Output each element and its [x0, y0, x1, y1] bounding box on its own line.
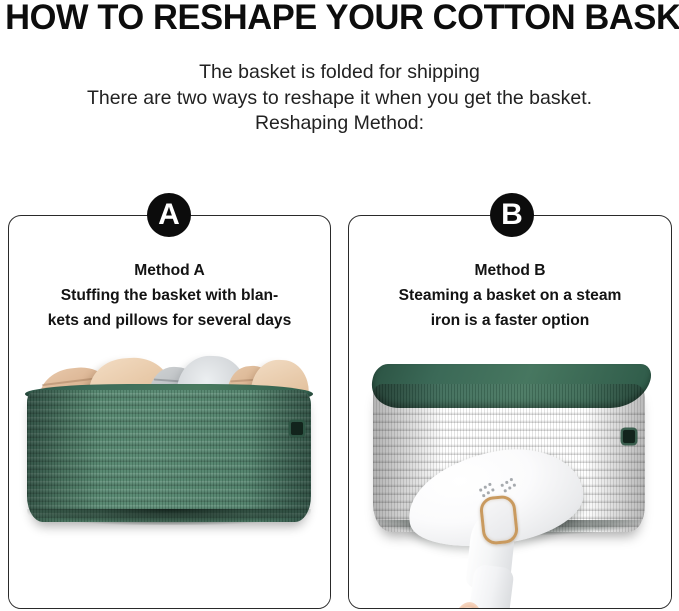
method-badge-b: B: [490, 193, 534, 237]
basket-a-rope-rows: [27, 390, 311, 522]
page-title: HOW TO RESHAPE YOUR COTTON BASKET: [5, 0, 674, 38]
method-card-a[interactable]: Method A Stuffing the basket with blan- …: [8, 215, 331, 609]
basket-a-body: [27, 390, 311, 522]
garment-steamer: [407, 444, 597, 609]
steamer-power-button[interactable]: [479, 494, 520, 546]
method-b-title: Method B: [355, 258, 665, 283]
method-a-caption: Method A Stuffing the basket with blan- …: [15, 258, 324, 333]
basket-a-shade-left: [27, 390, 101, 522]
subtitle-line-2: There are two ways to reshape it when yo…: [0, 86, 679, 112]
basket-b-slot-handle: [623, 430, 635, 443]
method-badge-a: A: [147, 193, 191, 237]
subtitle-block: The basket is folded for shipping There …: [0, 60, 679, 137]
method-b-caption: Method B Steaming a basket on a steam ir…: [355, 258, 665, 333]
subtitle-line-1: The basket is folded for shipping: [0, 60, 679, 86]
method-a-title: Method A: [15, 258, 324, 283]
method-a-illustration: [9, 346, 330, 608]
basket-a-slot-handle: [291, 422, 303, 435]
method-card-b[interactable]: Method B Steaming a basket on a steam ir…: [348, 215, 672, 609]
subtitle-line-3: Reshaping Method:: [0, 111, 679, 137]
thumb: [450, 600, 486, 609]
method-b-illustration: [349, 346, 671, 608]
basket-a-shade-right: [249, 390, 311, 522]
method-b-desc-line-1: Steaming a basket on a steam: [355, 283, 665, 308]
photo-bottom-fade-a: [9, 582, 330, 608]
hand-gripping-handle: [447, 600, 539, 609]
method-b-desc-line-2: iron is a faster option: [355, 308, 665, 333]
method-a-desc-line-2: kets and pillows for several days: [15, 308, 324, 333]
method-a-desc-line-1: Stuffing the basket with blan-: [15, 283, 324, 308]
